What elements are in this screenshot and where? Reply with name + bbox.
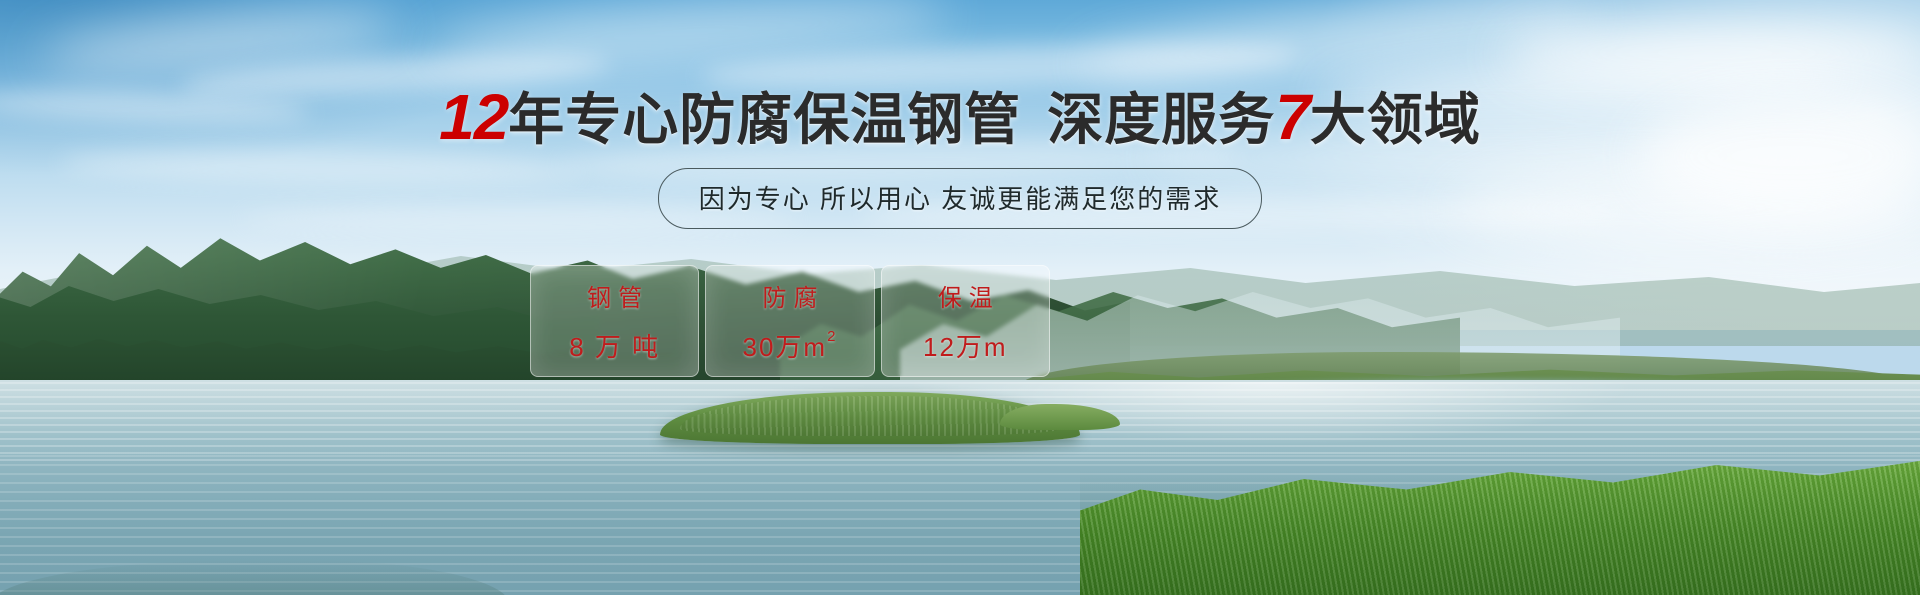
stat-card-anticorrosion: 防腐 30万m2 [705,265,874,377]
stat-card-value: 30万m2 [743,327,838,364]
headline-fields-number: 7 [1275,81,1310,153]
headline-part-2: 深度服务 [1047,88,1275,151]
headline-years-number: 12 [439,81,508,153]
stat-card-title: 保温 [931,278,1000,313]
stat-card-value-text: 12万m [923,327,1008,364]
headline-part-3: 大领域 [1310,88,1481,151]
stat-card-value-text: 30万m [743,327,828,364]
hero-banner: 12年专心防腐保温钢管深度服务7大领域 因为专心 所以用心 友诚更能满足您的需求… [0,0,1920,595]
stats-card-group: 钢管 8 万 吨 防腐 30万m2 保温 12万m [530,265,1050,375]
stat-card-insulation: 保温 12万m [881,265,1050,377]
stat-card-value-superscript: 2 [827,329,837,344]
stat-card-value: 12万m [923,327,1008,364]
stat-card-title: 防腐 [755,278,824,313]
stat-card-steel-pipe: 钢管 8 万 吨 [530,265,699,377]
stat-card-value-text: 8 万 吨 [569,327,660,364]
stat-card-value: 8 万 吨 [569,327,660,364]
banner-content: 12年专心防腐保温钢管深度服务7大领域 因为专心 所以用心 友诚更能满足您的需求… [0,0,1920,595]
subtitle-pill: 因为专心 所以用心 友诚更能满足您的需求 [658,168,1262,229]
headline: 12年专心防腐保温钢管深度服务7大领域 [0,83,1920,152]
headline-part-1: 年专心防腐保温钢管 [508,88,1021,151]
stat-card-title: 钢管 [580,278,649,313]
subtitle-container: 因为专心 所以用心 友诚更能满足您的需求 [0,168,1920,229]
